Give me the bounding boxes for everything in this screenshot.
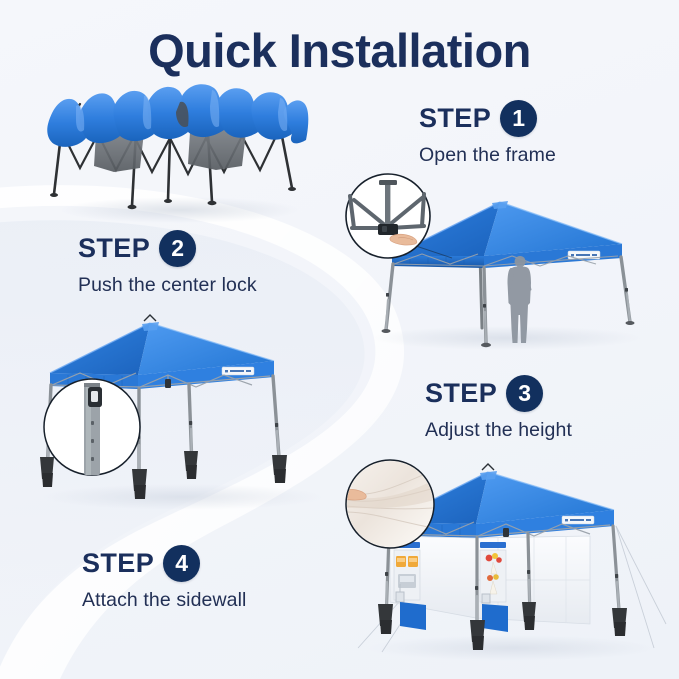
infographic-canvas: Quick Installation xyxy=(0,0,679,679)
step-3-word: STEP xyxy=(425,380,497,407)
step-3-heading: STEP 3 xyxy=(425,375,572,412)
brand-patch-step-4 xyxy=(562,516,594,524)
step-4-description: Attach the sidewall xyxy=(82,589,247,612)
brand-patch-step-3 xyxy=(222,367,254,375)
step-block-4: STEP 4 Attach the sidewall xyxy=(82,545,247,612)
step-4-badge: 4 xyxy=(163,545,200,582)
step-block-1: STEP 1 Open the frame xyxy=(419,100,556,167)
callout-sidewall-fabric xyxy=(339,460,435,548)
step-4-heading: STEP 4 xyxy=(82,545,247,582)
illustration-step-3-height-adjust xyxy=(22,305,322,515)
step-2-badge: 2 xyxy=(159,230,196,267)
step-block-2: STEP 2 Push the center lock xyxy=(78,230,257,297)
step-3-badge: 3 xyxy=(506,375,543,412)
illustration-step-4-sidewall xyxy=(338,452,668,664)
step-1-word: STEP xyxy=(419,105,491,132)
illustration-step-2-folded-canopy xyxy=(40,82,312,224)
step-2-description: Push the center lock xyxy=(78,274,257,297)
callout-leg-height-lock xyxy=(44,379,140,475)
step-2-heading: STEP 2 xyxy=(78,230,257,267)
step-4-word: STEP xyxy=(82,550,154,577)
step-2-word: STEP xyxy=(78,235,150,262)
page-title: Quick Installation xyxy=(0,27,679,74)
step-3-description: Adjust the height xyxy=(425,419,572,442)
step-1-badge: 1 xyxy=(500,100,537,137)
step-block-3: STEP 3 Adjust the height xyxy=(425,375,572,442)
step-1-description: Open the frame xyxy=(419,144,556,167)
step-1-heading: STEP 1 xyxy=(419,100,556,137)
illustration-step-1-erected-canopy xyxy=(332,172,652,350)
callout-center-lock xyxy=(346,174,430,258)
